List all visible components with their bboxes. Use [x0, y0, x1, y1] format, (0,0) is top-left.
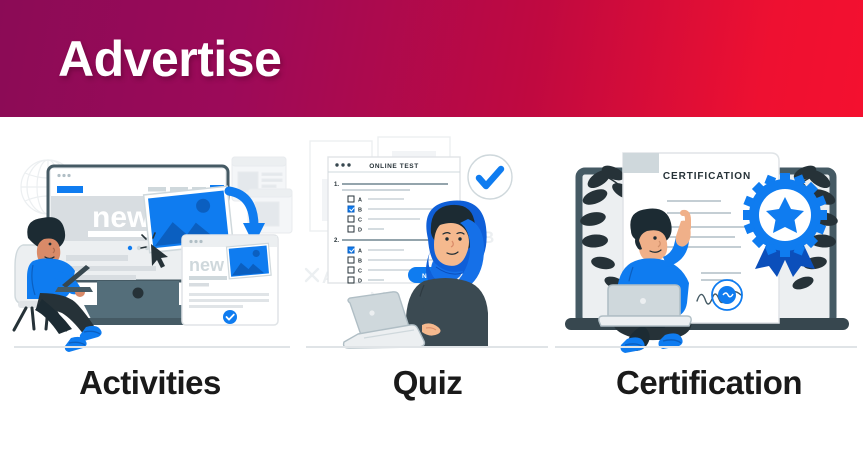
- feature-card-activities[interactable]: new: [0, 117, 300, 466]
- q1-option-a: A: [358, 198, 362, 204]
- q2-option-d: D: [358, 279, 362, 285]
- q2-option-c: C: [358, 269, 362, 275]
- feature-caption-quiz: Quiz: [393, 366, 463, 399]
- page-header: Advertise: [0, 0, 863, 117]
- q2-option-b: B: [358, 259, 362, 265]
- certificate-title: CERTIFICATION: [663, 171, 751, 182]
- q1-option-c: C: [358, 218, 362, 224]
- page-title: Advertise: [58, 34, 281, 84]
- monitor-hero-text: new: [92, 201, 151, 234]
- q1-option-d: D: [358, 228, 362, 234]
- online-test-title: ONLINE TEST: [369, 163, 419, 170]
- check-circle-icon: [468, 155, 512, 199]
- card-hero-text: new: [189, 255, 225, 275]
- illustration-certification: CERTIFICATION: [555, 135, 863, 360]
- feature-caption-certification: Certification: [616, 366, 802, 399]
- feature-card-certification[interactable]: CERTIFICATION: [555, 117, 863, 466]
- published-content-card: new: [182, 235, 278, 325]
- question-1-number: 1.: [334, 182, 339, 188]
- illustration-quiz: B D A C: [300, 135, 555, 360]
- feature-card-quiz[interactable]: B D A C: [300, 117, 555, 466]
- illustration-activities: new: [0, 135, 300, 360]
- feature-caption-activities: Activities: [79, 366, 221, 399]
- check-circle-icon: [223, 310, 237, 324]
- question-2-number: 2.: [334, 238, 339, 244]
- features-row: new: [0, 117, 863, 466]
- q1-option-b: B: [358, 208, 362, 214]
- q2-option-a: A: [358, 249, 362, 255]
